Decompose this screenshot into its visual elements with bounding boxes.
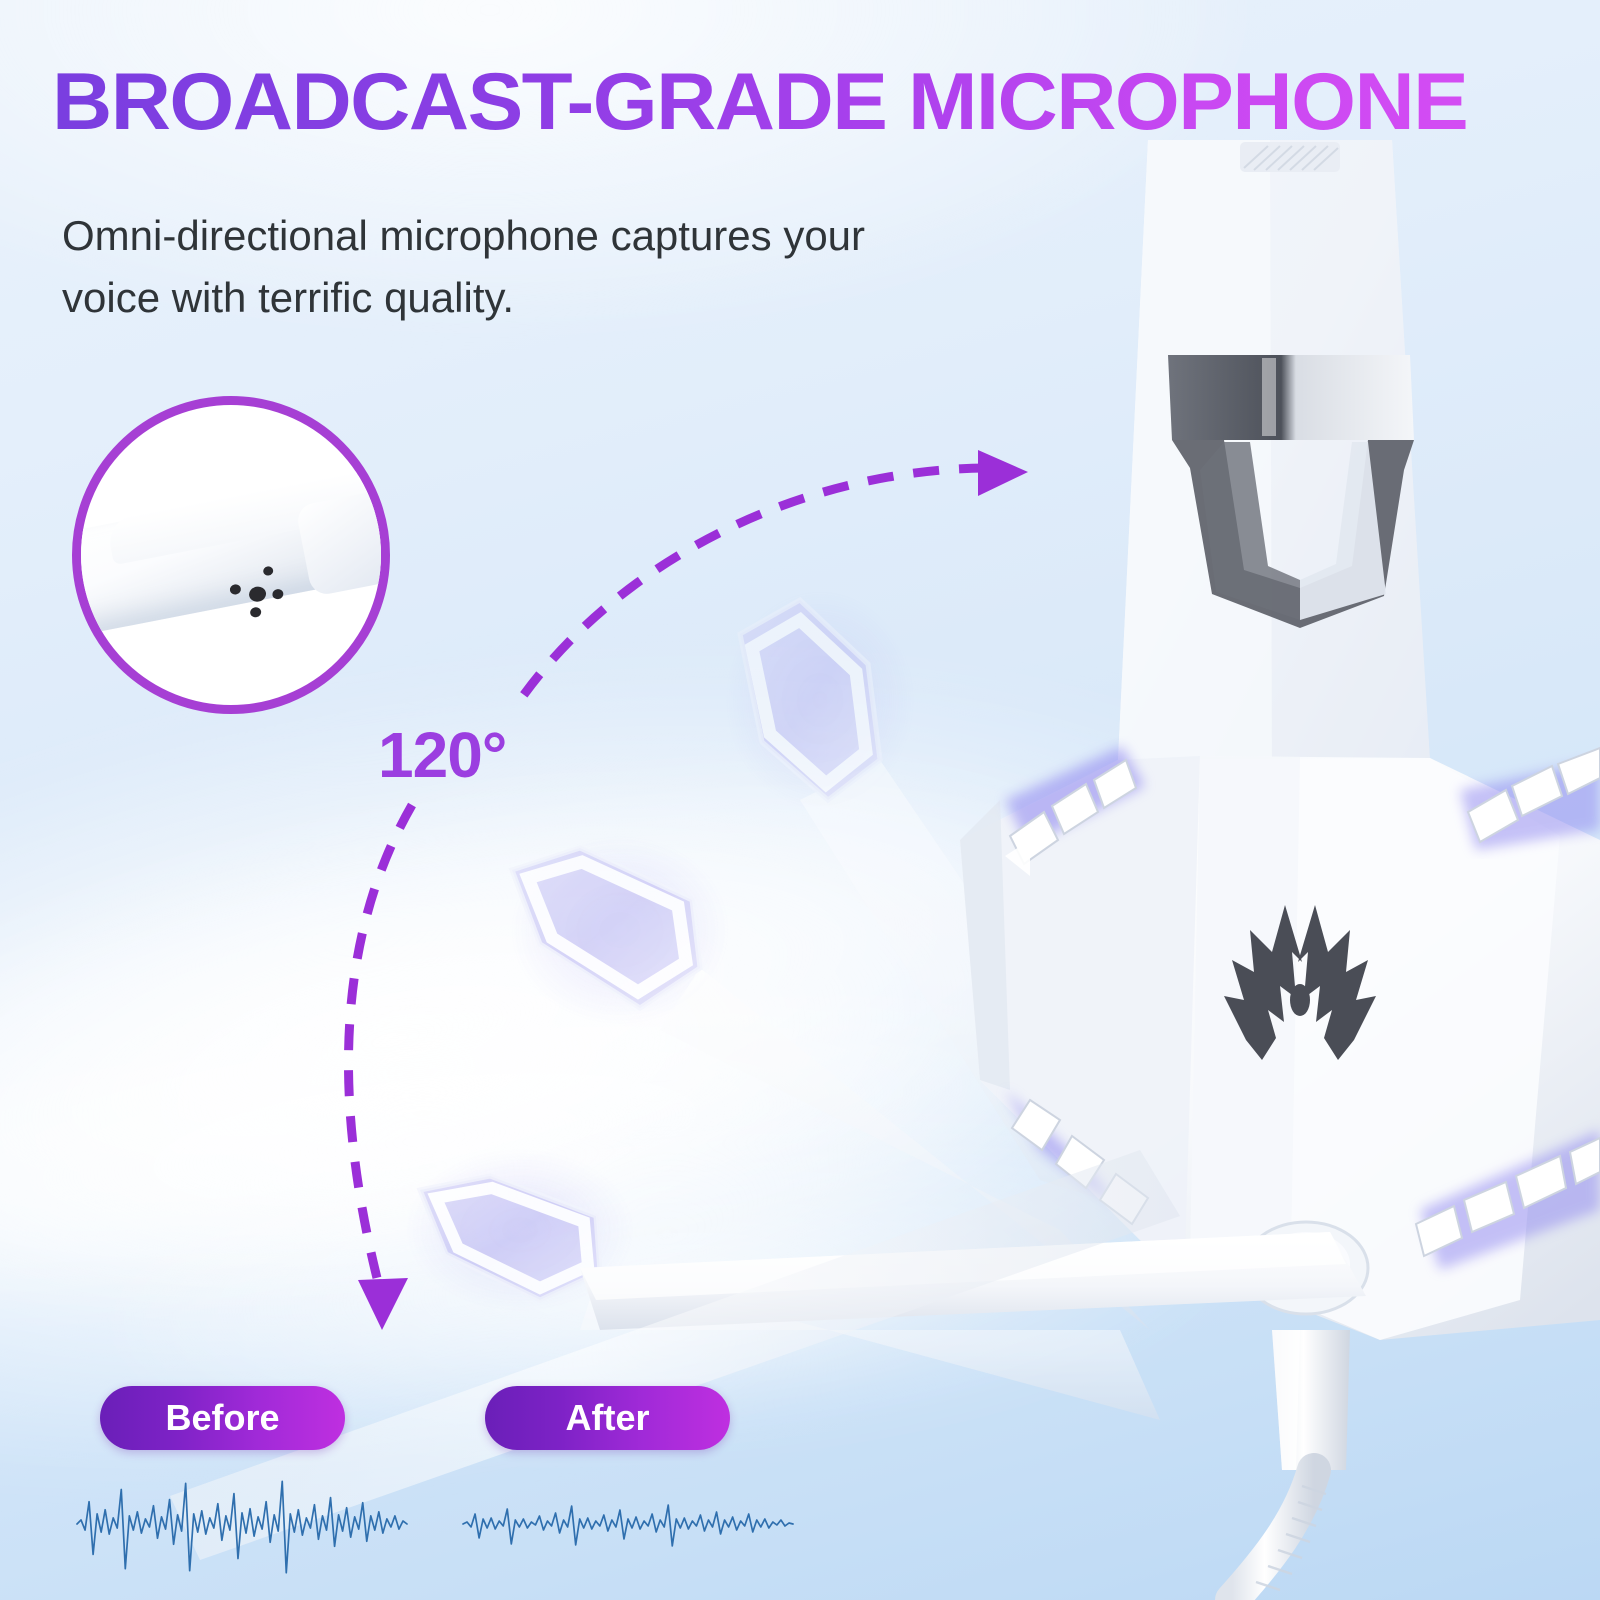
arc-lower-dashes (348, 805, 412, 1282)
rotation-angle-label: 120° (378, 718, 506, 792)
mic-hole-south (249, 606, 262, 618)
mic-hole-pattern (222, 557, 311, 630)
arrow-down-icon (358, 1278, 408, 1330)
mic-hole-center (248, 585, 267, 603)
badge-before: Before (100, 1386, 345, 1450)
mic-hole-north (262, 566, 273, 577)
microphone-capsule-closeup-icon (72, 396, 390, 714)
mic-hole-east (272, 588, 285, 600)
badge-after: After (485, 1386, 730, 1450)
page-subtitle: Omni-directional microphone captures you… (62, 205, 902, 329)
arrow-right-icon (978, 450, 1028, 496)
waveform-before (72, 1466, 412, 1582)
inset-boom-cap (295, 489, 390, 597)
product-feature-slide: BROADCAST-GRADE MICROPHONE Omni-directio… (0, 0, 1600, 1600)
page-title: BROADCAST-GRADE MICROPHONE (52, 62, 1600, 143)
mic-hole-west (229, 584, 242, 596)
arc-upper-dashes (520, 468, 985, 700)
waveform-after (458, 1466, 798, 1582)
